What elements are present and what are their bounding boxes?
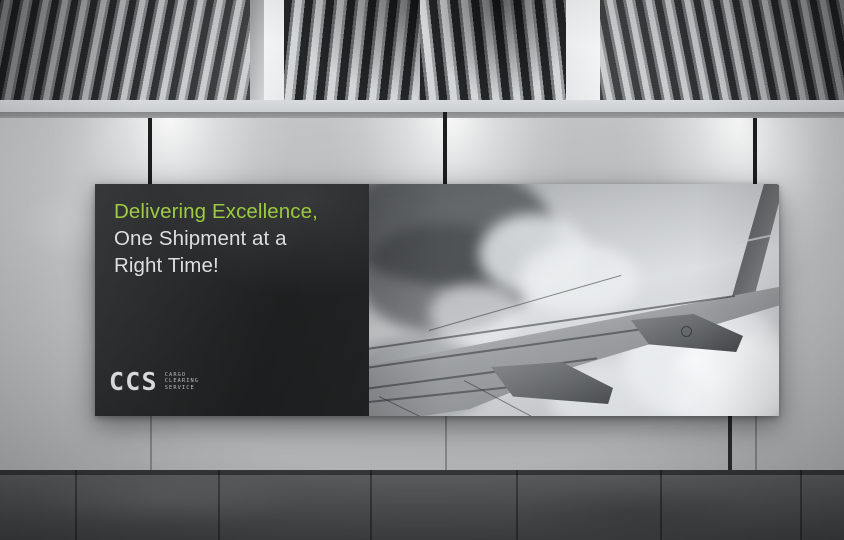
base-seam (516, 470, 518, 540)
headline-line-2: One Shipment at a (114, 225, 364, 252)
airplane-wing-photo (369, 184, 779, 416)
billboard-headline: Delivering Excellence, One Shipment at a… (114, 198, 364, 279)
base-seam (800, 470, 802, 540)
logo-sub-line-2: CLEARING (165, 378, 199, 384)
billboard-poster[interactable]: Delivering Excellence, One Shipment at a… (95, 184, 779, 416)
base-texture (0, 470, 844, 540)
billboard-mockup-scene: Delivering Excellence, One Shipment at a… (0, 0, 844, 540)
stone-base-skirting (0, 470, 844, 540)
headline-line-1: Delivering Excellence, (114, 198, 364, 225)
headline-line-3: Right Time! (114, 252, 364, 279)
base-seam (660, 470, 662, 540)
base-seam (370, 470, 372, 540)
ccs-logo: CCS CARGO CLEARING SERVICE (109, 369, 199, 394)
base-seam (75, 470, 77, 540)
logo-subtext: CARGO CLEARING SERVICE (165, 372, 199, 391)
logo-sub-line-3: SERVICE (165, 385, 199, 391)
base-seam (218, 470, 220, 540)
logo-mark: CCS (109, 369, 158, 394)
base-top-shadow (0, 470, 844, 475)
photo-shading (369, 184, 779, 416)
wall-rail-lower (728, 415, 732, 473)
